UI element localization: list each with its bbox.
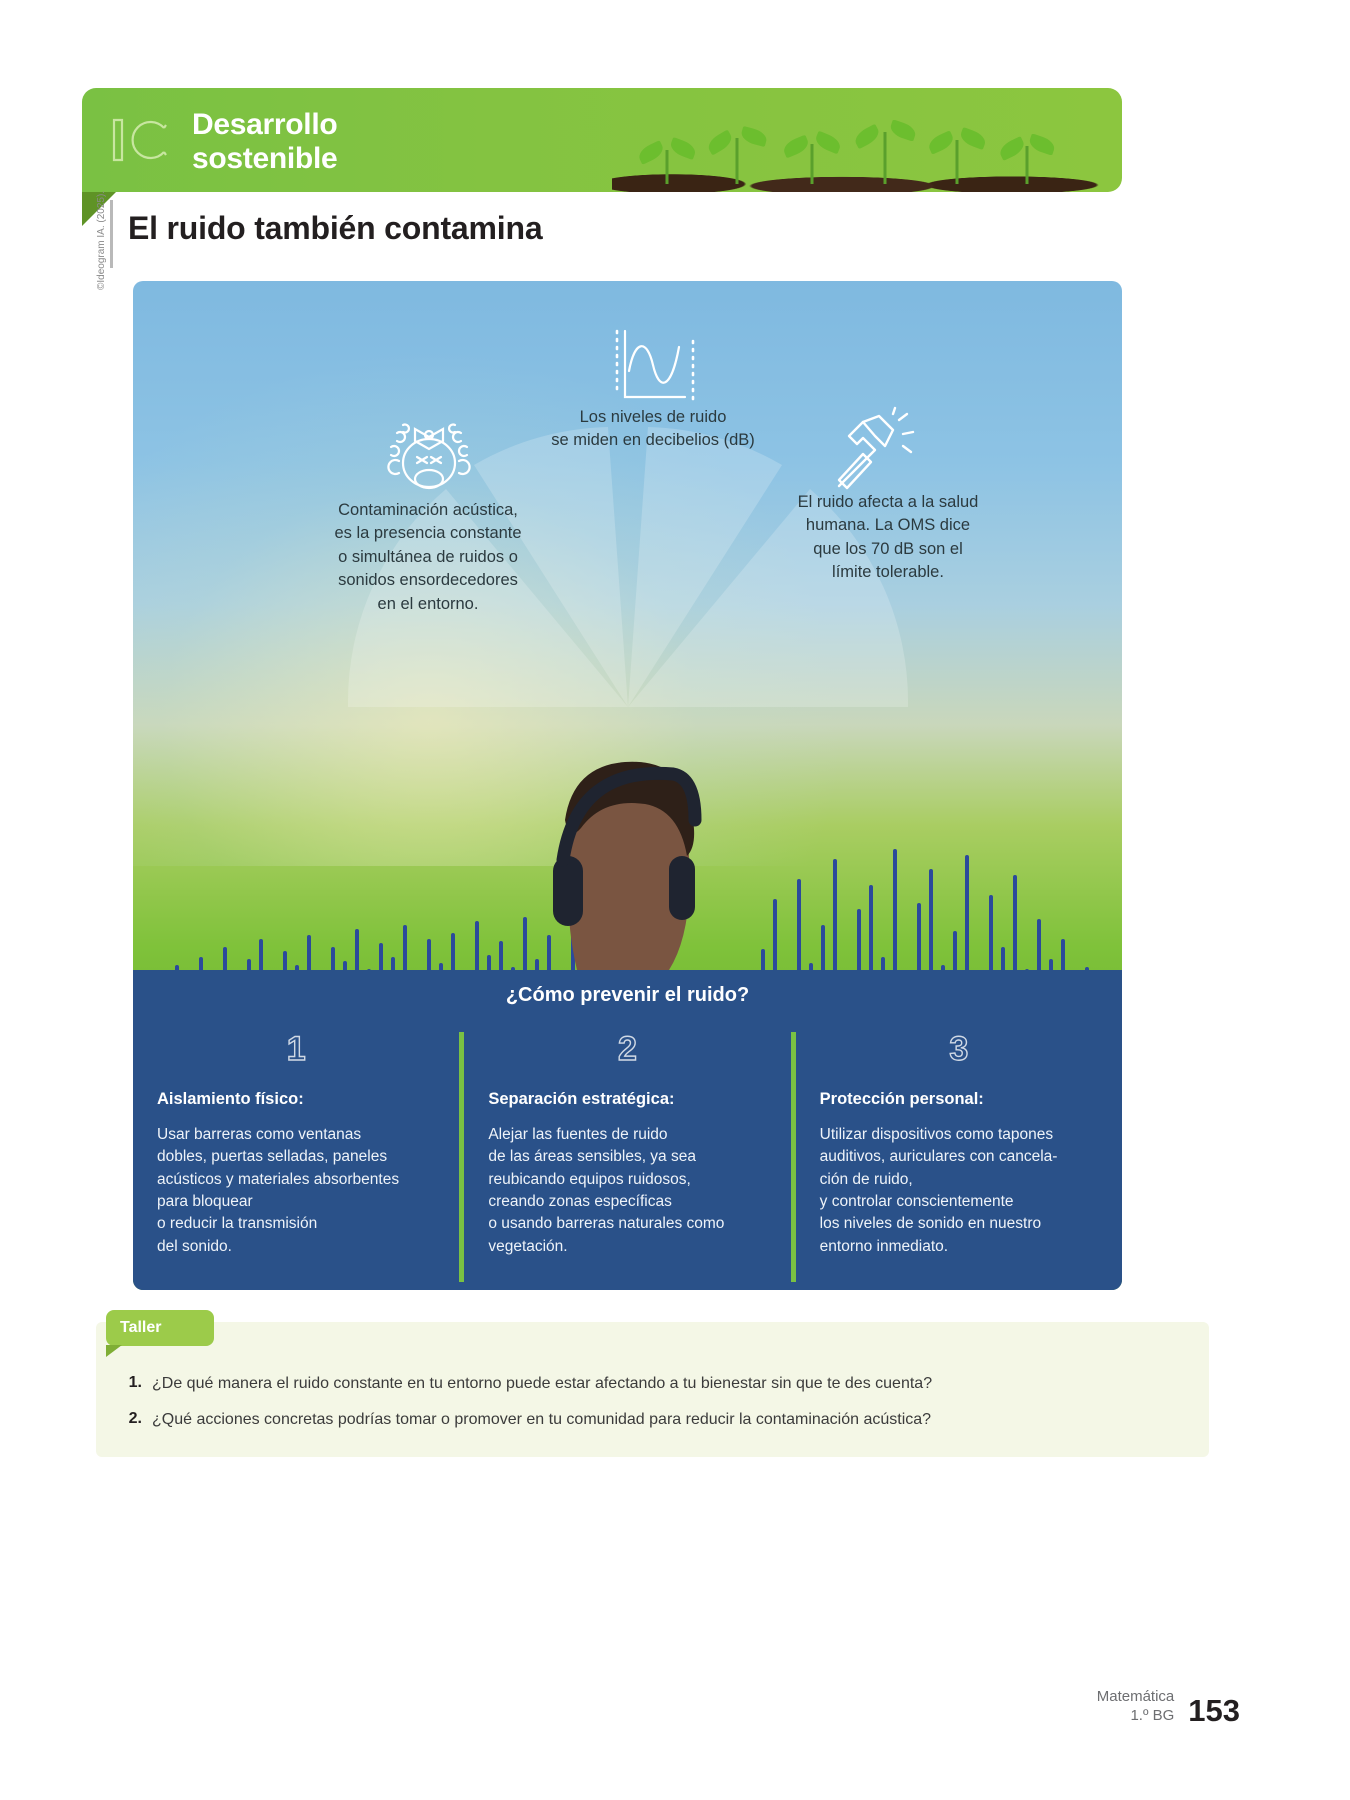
prevention-panel: ¿Cómo prevenir el ruido? 1 Aislamiento f… — [133, 970, 1122, 1290]
image-credit: ©Ideogram IA. (2025). — [96, 191, 107, 290]
question-number: 2. — [116, 1410, 142, 1431]
taller-section: Taller 1. ¿De qué manera el ruido consta… — [96, 1322, 1209, 1457]
taller-tab-label: Taller — [106, 1310, 214, 1346]
taller-question-item: 1. ¿De qué manera el ruido constante en … — [116, 1374, 1193, 1395]
page-footer: Matemática 1.º BG 153 — [1097, 1688, 1240, 1726]
sound-wave-graph-icon — [603, 321, 703, 411]
column-title: Separación estratégica: — [488, 1090, 674, 1109]
column-body: Utilizar dispositivos como tapones audit… — [820, 1124, 1102, 1258]
column-body: Usar barreras como ventanas dobles, puer… — [157, 1124, 439, 1258]
infographic-center-text: Los niveles de ruido se miden en decibel… — [523, 406, 783, 453]
question-text: ¿De qué manera el ruido constante en tu … — [152, 1374, 932, 1395]
prevention-column-1: 1 Aislamiento físico: Usar barreras como… — [133, 1032, 459, 1282]
infographic: Contaminación acústica, es la presencia … — [133, 281, 1122, 1290]
taller-question-list: 1. ¿De qué manera el ruido constante en … — [116, 1374, 1193, 1446]
question-text: ¿Qué acciones concretas podrías tomar o … — [152, 1410, 931, 1431]
infographic-left-text: Contaminación acústica, es la presencia … — [308, 499, 548, 616]
sprouts-illustration — [612, 88, 1122, 192]
prevention-columns: 1 Aislamiento físico: Usar barreras como… — [133, 1032, 1122, 1282]
infographic-right-text: El ruido afecta a la salud humana. La OM… — [773, 491, 1003, 585]
ic-logo-icon — [104, 114, 176, 166]
prevention-column-3: 3 Protección personal: Utilizar disposit… — [791, 1032, 1122, 1282]
prevention-column-2: 2 Separación estratégica: Alejar las fue… — [459, 1032, 790, 1282]
hammer-noise-icon — [823, 406, 919, 502]
banner-background: Desarrollo sostenible — [82, 88, 1122, 192]
column-title: Aislamiento físico: — [157, 1090, 304, 1109]
column-title: Protección personal: — [820, 1090, 984, 1109]
page-title: El ruido también contamina — [128, 210, 542, 247]
column-number: 2 — [618, 1032, 637, 1066]
footer-page-number: 153 — [1188, 1695, 1240, 1726]
banner-title: Desarrollo sostenible — [192, 108, 337, 175]
title-rule — [110, 200, 113, 268]
screaming-face-icon — [369, 411, 489, 511]
column-number: 1 — [287, 1032, 306, 1066]
column-number: 3 — [949, 1032, 968, 1066]
column-body: Alejar las fuentes de ruido de las áreas… — [488, 1124, 770, 1258]
prevention-heading: ¿Cómo prevenir el ruido? — [506, 984, 749, 1007]
question-number: 1. — [116, 1374, 142, 1395]
header-banner: Desarrollo sostenible — [82, 88, 1122, 192]
footer-subject: Matemática 1.º BG — [1097, 1688, 1175, 1726]
taller-question-item: 2. ¿Qué acciones concretas podrías tomar… — [116, 1410, 1193, 1431]
